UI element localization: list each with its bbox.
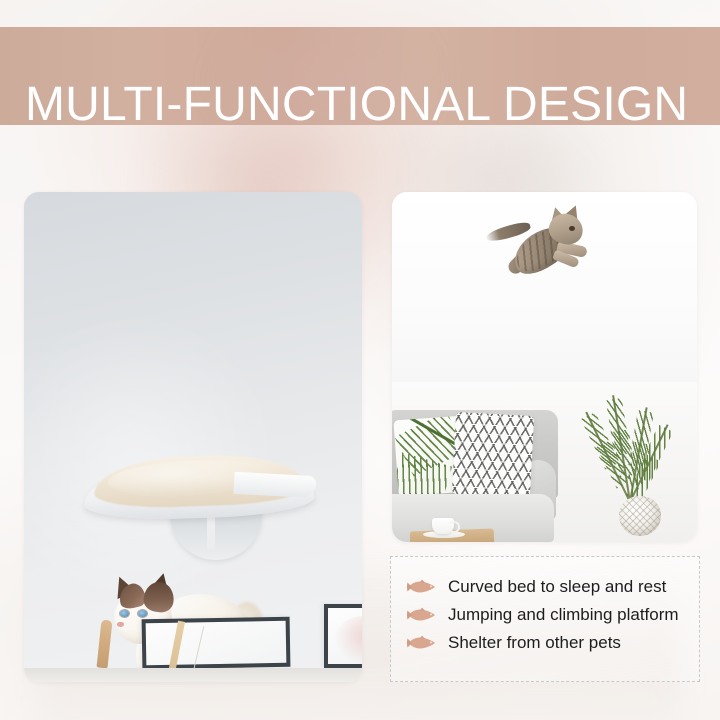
- feature-list-box: Curved bed to sleep and rest Jumping and…: [390, 556, 700, 682]
- jumping-kitten: [495, 210, 591, 290]
- leaf-stem: [407, 416, 459, 447]
- product-feature-image: MULTI-FUNCTIONAL DESIGN: [0, 0, 720, 720]
- photo-panel-left: [24, 192, 362, 682]
- fish-icon: [407, 579, 437, 595]
- cat-nose: [117, 622, 124, 627]
- coffee-cup: [432, 518, 454, 534]
- feature-label: Jumping and climbing platform: [448, 605, 679, 625]
- banner-title: MULTI-FUNCTIONAL DESIGN: [25, 77, 688, 125]
- potted-plant: [587, 394, 677, 502]
- mesh-glass-vase: [619, 496, 661, 536]
- curved-cat-shelf: [84, 430, 314, 560]
- cushion-chevron-pattern: [452, 412, 534, 498]
- cat-eye-right: [138, 610, 147, 617]
- fish-icon: [407, 635, 437, 651]
- feature-item: Shelter from other pets: [407, 629, 679, 656]
- floor-line: [24, 668, 362, 682]
- feature-label: Shelter from other pets: [448, 633, 621, 653]
- feature-list: Curved bed to sleep and rest Jumping and…: [407, 573, 679, 657]
- living-room-scene: [392, 382, 697, 542]
- feature-item: Curved bed to sleep and rest: [407, 573, 679, 600]
- feature-item: Jumping and climbing platform: [407, 601, 679, 628]
- feature-label: Curved bed to sleep and rest: [448, 577, 666, 597]
- fish-icon: [407, 607, 437, 623]
- cat-eye-left: [120, 610, 129, 617]
- picture-frame-right: [324, 604, 362, 668]
- shelf-lip: [233, 472, 316, 498]
- header-banner: MULTI-FUNCTIONAL DESIGN: [0, 27, 720, 125]
- picture-frame-center: [142, 617, 291, 670]
- kitten-eye: [569, 226, 575, 231]
